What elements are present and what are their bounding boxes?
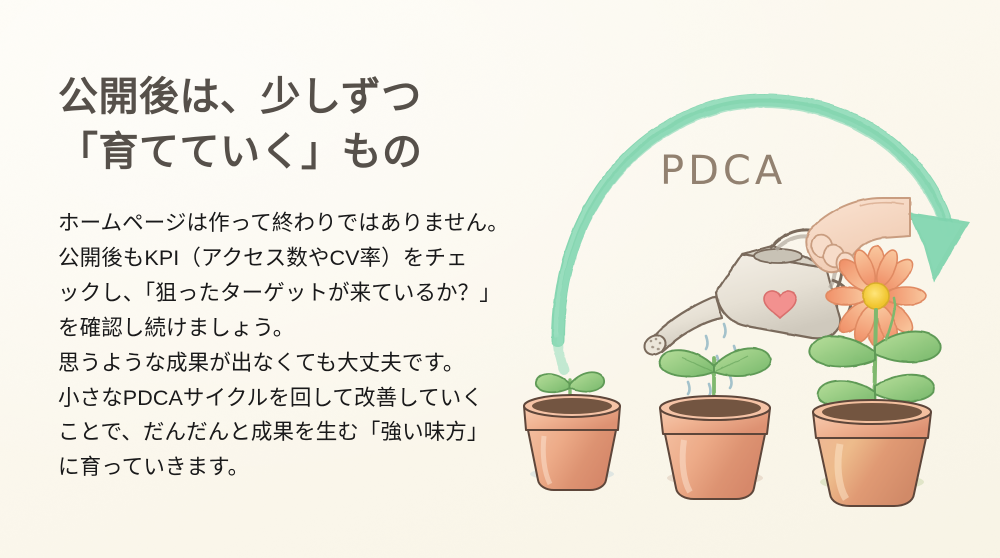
body-line-5: 思うような成果が出なくても大丈夫です。 <box>58 346 528 381</box>
body-paragraph: ホームページは作って終わりではありません。 公開後もKPI（アクセス数やCV率）… <box>58 206 528 485</box>
headline-line-2: 「育てていく」もの <box>58 125 528 180</box>
list-item <box>660 348 771 499</box>
body-line-4: を確認し続けましょう。 <box>58 311 528 346</box>
pdca-label: PDCA <box>660 148 786 194</box>
body-line-1: ホームページは作って終わりではありません。 <box>58 206 528 241</box>
body-line-7: ことで、だんだんと成果を生む「強い味方」 <box>58 415 528 450</box>
page-title: 公開後は、少しずつ 「育てていく」もの <box>58 70 528 180</box>
headline-line-1: 公開後は、少しずつ <box>58 70 528 125</box>
list-item <box>524 372 620 490</box>
slide-canvas: 公開後は、少しずつ 「育てていく」もの ホームページは作って終わりではありません… <box>0 0 1000 558</box>
text-column: 公開後は、少しずつ 「育てていく」もの ホームページは作って終わりではありません… <box>58 70 528 485</box>
body-line-6: 小さなPDCAサイクルを回して改善していく <box>58 381 528 416</box>
body-line-8: に育っていきます。 <box>58 450 528 485</box>
body-line-2: 公開後もKPI（アクセス数やCV率）をチェ <box>58 241 528 276</box>
pdca-illustration <box>510 40 1000 520</box>
body-line-3: ックし、「狙ったターゲットが来ているか？」 <box>58 276 528 311</box>
